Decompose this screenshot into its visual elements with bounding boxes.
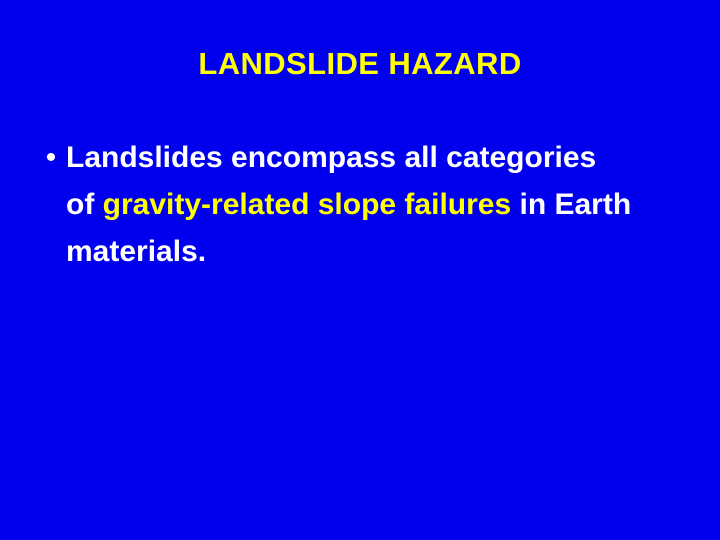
- bullet-marker-icon: •: [36, 134, 66, 181]
- list-item: • Landslides encompass all categories of…: [36, 134, 676, 275]
- bullet-text: Landslides encompass all categories of g…: [66, 134, 632, 275]
- bullet-text-highlight: gravity-related slope failures: [103, 188, 512, 221]
- slide: LANDSLIDE HAZARD • Landslides encompass …: [0, 0, 720, 540]
- slide-body: • Landslides encompass all categories of…: [36, 134, 676, 275]
- slide-title: LANDSLIDE HAZARD: [0, 46, 720, 82]
